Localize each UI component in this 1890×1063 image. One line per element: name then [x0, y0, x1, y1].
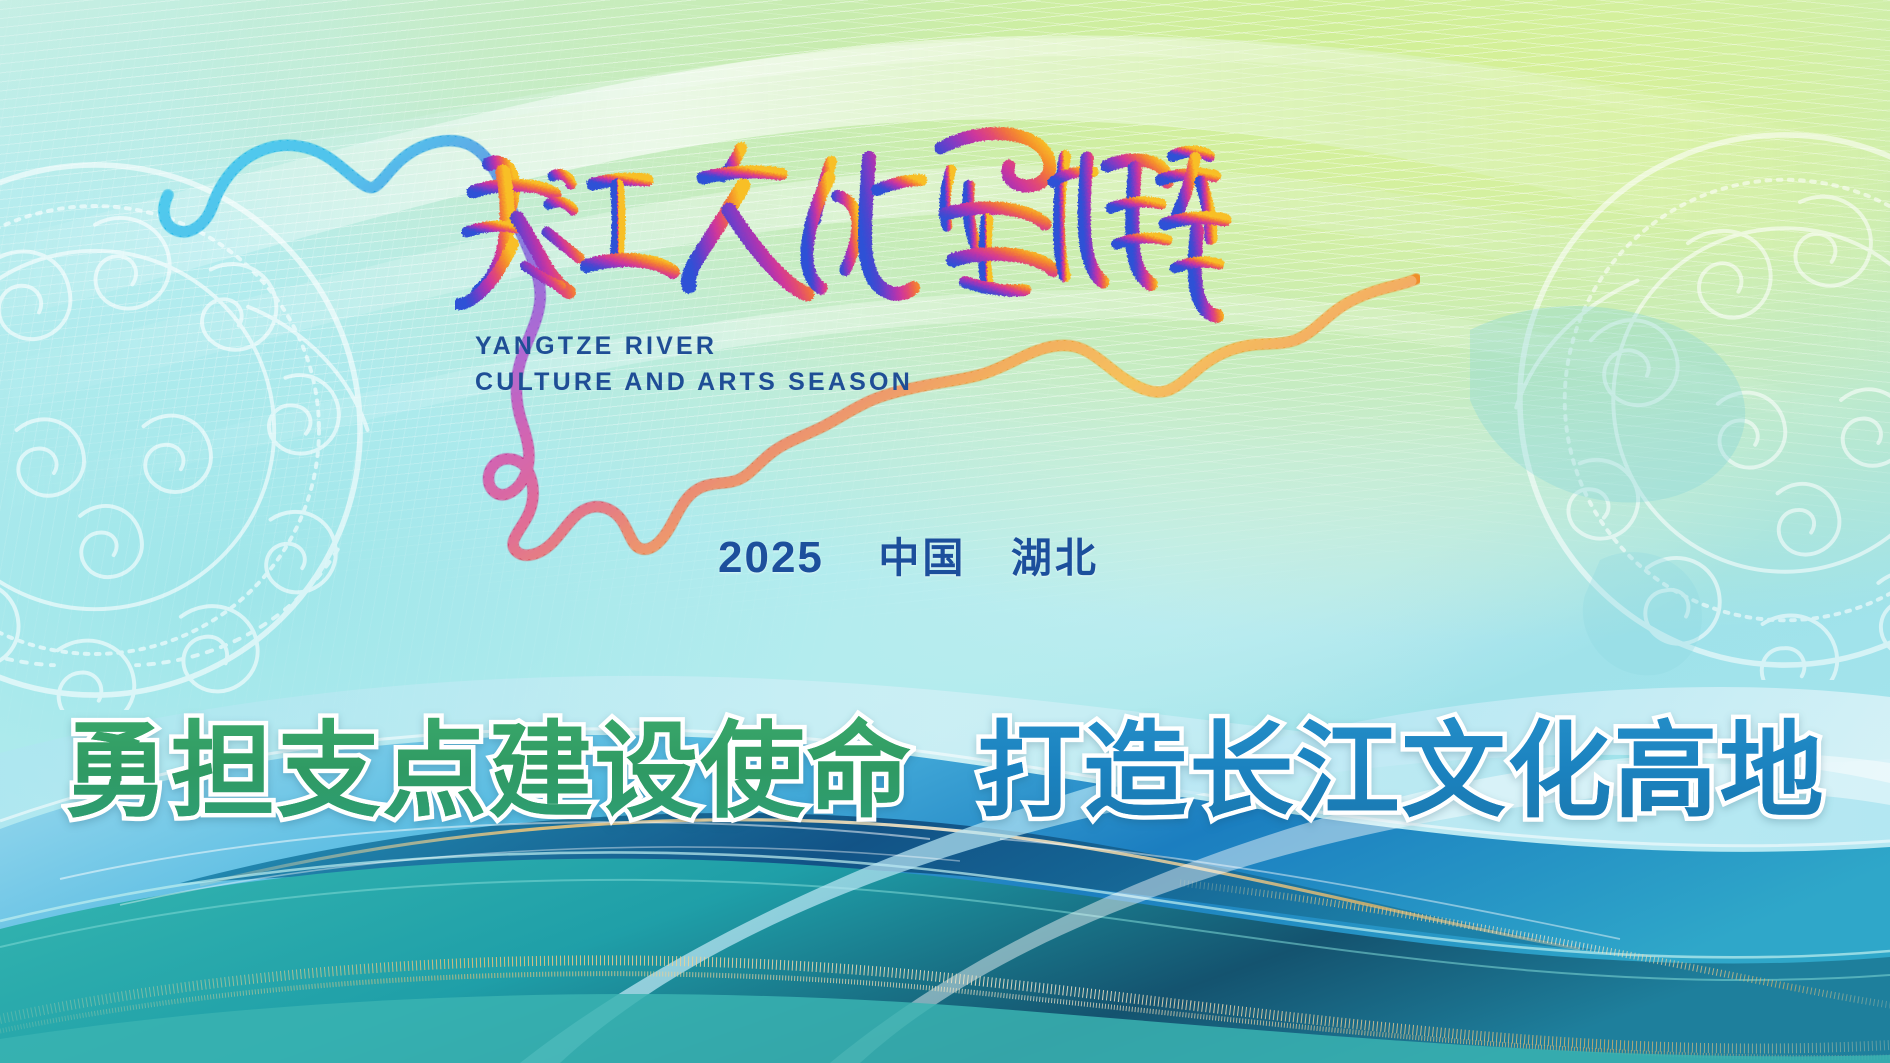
calligraphy-char-hua: [807, 158, 921, 294]
slogan-line: 勇担支点建设使命 勇担支点建设使命 打造长江文化高地 打造长江文化高地: [0, 686, 1890, 837]
calligraphy-char-jiang: [547, 174, 673, 272]
year-text: 2025: [718, 533, 824, 582]
slogan-part-a: 勇担支点建设使命 勇担支点建设使命: [65, 686, 913, 837]
slogan-part-b-text: 打造长江文化高地: [977, 714, 1825, 830]
calligraphy-char-shu: [1053, 156, 1167, 284]
calligraphy-char-ji: [1161, 152, 1225, 317]
calligraphy-char-yi: [941, 134, 1053, 291]
calligraphy-char-wen: [688, 148, 807, 294]
calligraphy-title-changjiang-wenhua-yishuji: [455, 120, 1235, 325]
subtitle-english: YANGTZE RIVER CULTURE AND ARTS SEASON: [475, 328, 913, 400]
subtitle-line-2: CULTURE AND ARTS SEASON: [475, 364, 913, 400]
slogan-part-a-text: 勇担支点建设使命: [65, 714, 913, 830]
country-text: 中国: [878, 535, 966, 581]
title-block: YANGTZE RIVER CULTURE AND ARTS SEASON: [455, 120, 1235, 325]
slogan-part-b: 打造长江文化高地 打造长江文化高地: [977, 686, 1825, 837]
year-location-line: 2025 中国 湖北: [718, 524, 1099, 584]
subtitle-line-1: YANGTZE RIVER: [475, 328, 913, 364]
province-text: 湖北: [1011, 535, 1099, 581]
poster-canvas: YANGTZE RIVER CULTURE AND ARTS SEASON 20…: [0, 0, 1890, 1063]
